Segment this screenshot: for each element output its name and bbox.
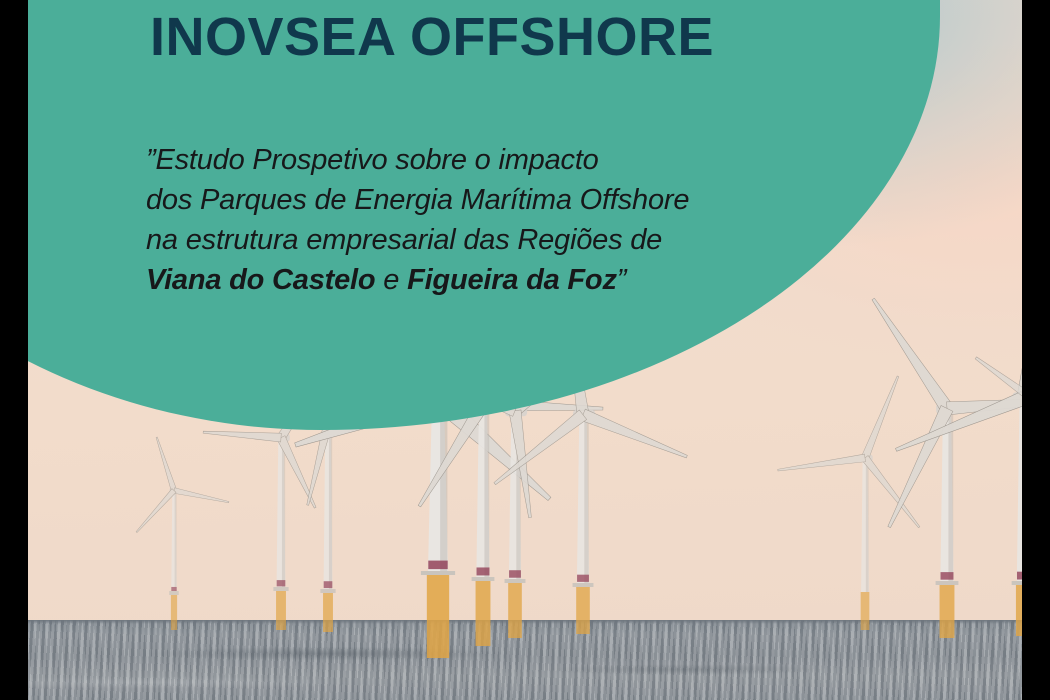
turbine-tower-shading	[584, 418, 588, 586]
turbine-platform	[169, 591, 179, 595]
turbine-right-edge	[892, 244, 1022, 636]
turbine-blade	[861, 375, 901, 459]
turbine-platform	[273, 587, 288, 591]
turbine-blade	[893, 391, 1022, 456]
turbine-platform	[421, 571, 455, 575]
turbine-left-inner	[216, 311, 414, 632]
subtitle-block: ”Estudo Prospetivo sobre o impacto dos P…	[146, 140, 846, 300]
turbine-monopile	[576, 586, 590, 634]
turbine-tower-shading	[282, 440, 285, 590]
wind-turbine-group	[28, 0, 1022, 700]
turbine-blade	[491, 410, 587, 488]
subtitle-line-1: ”Estudo Prospetivo sobre o impacto	[146, 140, 846, 180]
letterbox-bar-right	[1022, 0, 1050, 700]
subtitle-connector: e	[375, 264, 407, 296]
turbine-blade	[292, 389, 441, 454]
background-photo	[28, 0, 1022, 700]
turbine-platform	[936, 581, 959, 585]
region-viana-do-castelo: Viana do Castelo	[146, 264, 375, 296]
subtitle-line-2: dos Parques de Energia Marítima Offshore	[146, 180, 846, 220]
turbine-monopile	[476, 580, 491, 646]
turbine-rotor	[109, 422, 231, 535]
turbine-monopile	[171, 594, 177, 630]
turbine-blade	[134, 489, 176, 534]
turbine-maroon-band	[428, 561, 447, 570]
page-title: INOVSEA OFFSHORE	[150, 6, 714, 68]
turbine-maroon-band	[509, 570, 521, 577]
turbine-tower-shading	[329, 426, 332, 592]
turbine-monopile	[508, 582, 522, 638]
subtitle-closing-quote: ”	[617, 264, 626, 296]
turbine-maroon-band	[477, 567, 490, 575]
turbine-tower-shading	[484, 408, 489, 580]
subtitle-line-4: Viana do Castelo e Figueira da Foz”	[146, 260, 846, 300]
turbine-blade	[581, 409, 689, 462]
turbine-blade	[203, 428, 281, 442]
turbine-monopile	[861, 592, 870, 630]
subtitle-line-3: na estrutura empresarial das Regiões de	[146, 220, 846, 260]
turbine-maroon-band	[277, 580, 286, 586]
turbine-blade	[173, 488, 229, 505]
turbine-left-mid	[199, 334, 382, 630]
turbine-maroon-band	[324, 581, 333, 588]
turbine-platform	[573, 583, 594, 587]
turbine-platform	[1012, 581, 1022, 585]
turbine-monopile	[427, 574, 449, 658]
turbine-platform	[505, 579, 526, 583]
turbine-tower-shading	[866, 460, 869, 592]
turbine-blade	[868, 295, 953, 412]
turbine-platform	[472, 577, 495, 581]
letterbox-bar-left	[0, 0, 28, 700]
turbine-far-left	[109, 422, 231, 630]
turbine-maroon-band	[577, 575, 589, 582]
turbine-maroon-band	[941, 572, 954, 580]
turbine-blade	[777, 454, 865, 474]
turbine-tower-shading	[948, 412, 953, 584]
turbine-far-right-edge	[921, 283, 1022, 632]
turbine-tower-shading	[440, 404, 447, 574]
turbine-blade	[154, 436, 177, 491]
turbine-platform	[320, 589, 335, 593]
turbine-monopile	[323, 592, 333, 632]
turbine-rotor	[775, 347, 971, 531]
turbine-rotor	[892, 244, 1022, 489]
turbine-monopile	[940, 584, 955, 638]
turbine-tower-shading	[175, 492, 177, 594]
turbine-maroon-band	[171, 587, 176, 591]
poster-canvas: INOVSEA OFFSHORE ”Estudo Prospetivo sobr…	[0, 0, 1050, 700]
turbine-monopile	[276, 590, 286, 630]
region-figueira-da-foz: Figueira da Foz	[407, 264, 617, 296]
